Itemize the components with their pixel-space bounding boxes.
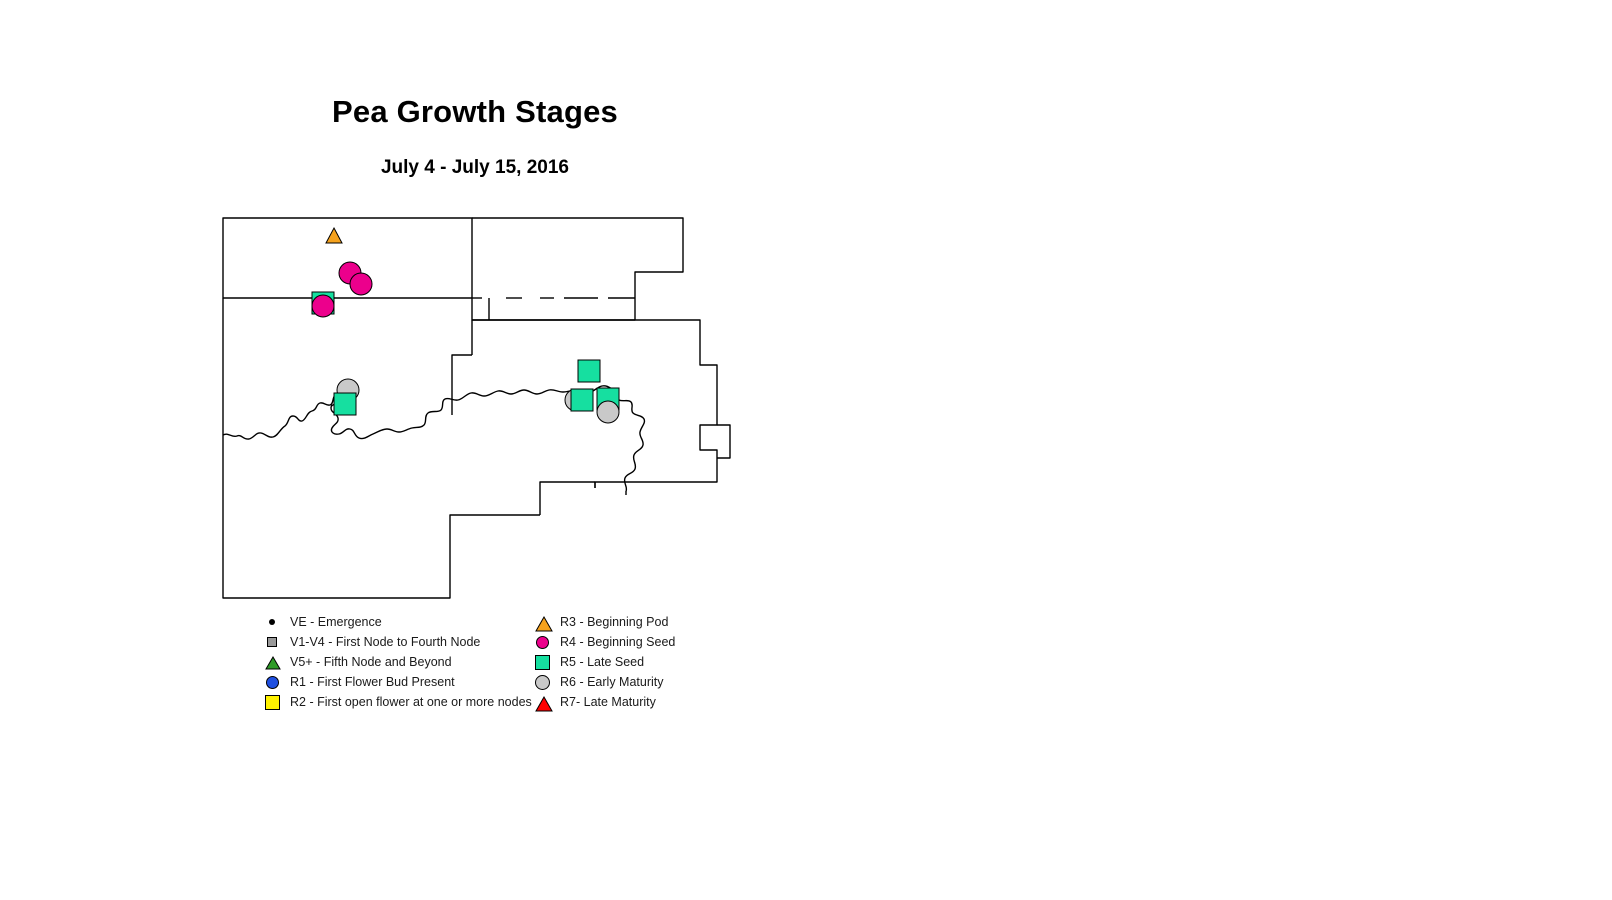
state-county-map <box>210 210 740 610</box>
legend-label: R1 - First Flower Bud Present <box>290 676 455 689</box>
legend-label: R7- Late Maturity <box>560 696 656 709</box>
legend-item-r5[interactable]: R5 - Late Seed <box>532 652 675 672</box>
county-nw-boundary <box>223 218 472 298</box>
v1v4-square-icon <box>262 633 284 651</box>
map-page: Pea Growth Stages July 4 - July 15, 2016 <box>0 0 1612 900</box>
county-south-east-block <box>540 482 595 515</box>
map-markers-group <box>312 228 619 423</box>
legend-label: R6 - Early Maturity <box>560 676 664 689</box>
ve-dot-icon <box>262 613 284 631</box>
legend-item-ve[interactable]: VE - Emergence <box>262 612 532 632</box>
page-subtitle: July 4 - July 15, 2016 <box>0 157 950 179</box>
legend-label: R4 - Beginning Seed <box>560 636 675 649</box>
legend-column-right: R3 - Beginning Pod R4 - Beginning Seed R… <box>532 612 675 712</box>
county-ne-boundary <box>472 218 683 320</box>
legend-item-r4[interactable]: R4 - Beginning Seed <box>532 632 675 652</box>
county-divider-vertical-2 <box>452 355 472 415</box>
map-canvas <box>210 210 740 610</box>
marker-r5-square[interactable] <box>571 389 593 411</box>
legend-label: R5 - Late Seed <box>560 656 644 669</box>
r3-triangle-icon <box>532 613 554 631</box>
r1-circle-icon <box>262 673 284 691</box>
marker-r5-square[interactable] <box>334 393 356 415</box>
marker-r3-triangle[interactable] <box>326 228 342 243</box>
r5-square-icon <box>532 653 554 671</box>
legend-item-v5plus[interactable]: V5+ - Fifth Node and Beyond <box>262 652 532 672</box>
page-title: Pea Growth Stages <box>0 94 950 130</box>
r4-circle-icon <box>532 633 554 651</box>
map-outline-group <box>223 218 730 598</box>
marker-r4-circle[interactable] <box>312 295 334 317</box>
legend-label: R3 - Beginning Pod <box>560 616 668 629</box>
legend-label: V5+ - Fifth Node and Beyond <box>290 656 452 669</box>
legend-item-r7[interactable]: R7- Late Maturity <box>532 692 675 712</box>
marker-r5-square[interactable] <box>578 360 600 382</box>
v5plus-triangle-icon <box>262 653 284 671</box>
county-south-boundary <box>223 435 540 598</box>
r2-square-icon <box>262 693 284 711</box>
legend-item-v1v4[interactable]: V1-V4 - First Node to Fourth Node <box>262 632 532 652</box>
legend-item-r3[interactable]: R3 - Beginning Pod <box>532 612 675 632</box>
legend-item-r6[interactable]: R6 - Early Maturity <box>532 672 675 692</box>
marker-r6-circle[interactable] <box>597 401 619 423</box>
legend-label: R2 - First open flower at one or more no… <box>290 696 532 709</box>
county-east-boundary <box>472 320 717 488</box>
legend-column-left: VE - Emergence V1-V4 - First Node to Fou… <box>262 612 532 712</box>
r6-circle-icon <box>532 673 554 691</box>
marker-r4-circle[interactable] <box>350 273 372 295</box>
legend-item-r1[interactable]: R1 - First Flower Bud Present <box>262 672 532 692</box>
legend-item-r2[interactable]: R2 - First open flower at one or more no… <box>262 692 532 712</box>
county-east-right-step <box>717 425 730 458</box>
legend: VE - Emergence V1-V4 - First Node to Fou… <box>262 612 722 722</box>
legend-label: VE - Emergence <box>290 616 382 629</box>
legend-label: V1-V4 - First Node to Fourth Node <box>290 636 480 649</box>
r7-triangle-icon <box>532 693 554 711</box>
